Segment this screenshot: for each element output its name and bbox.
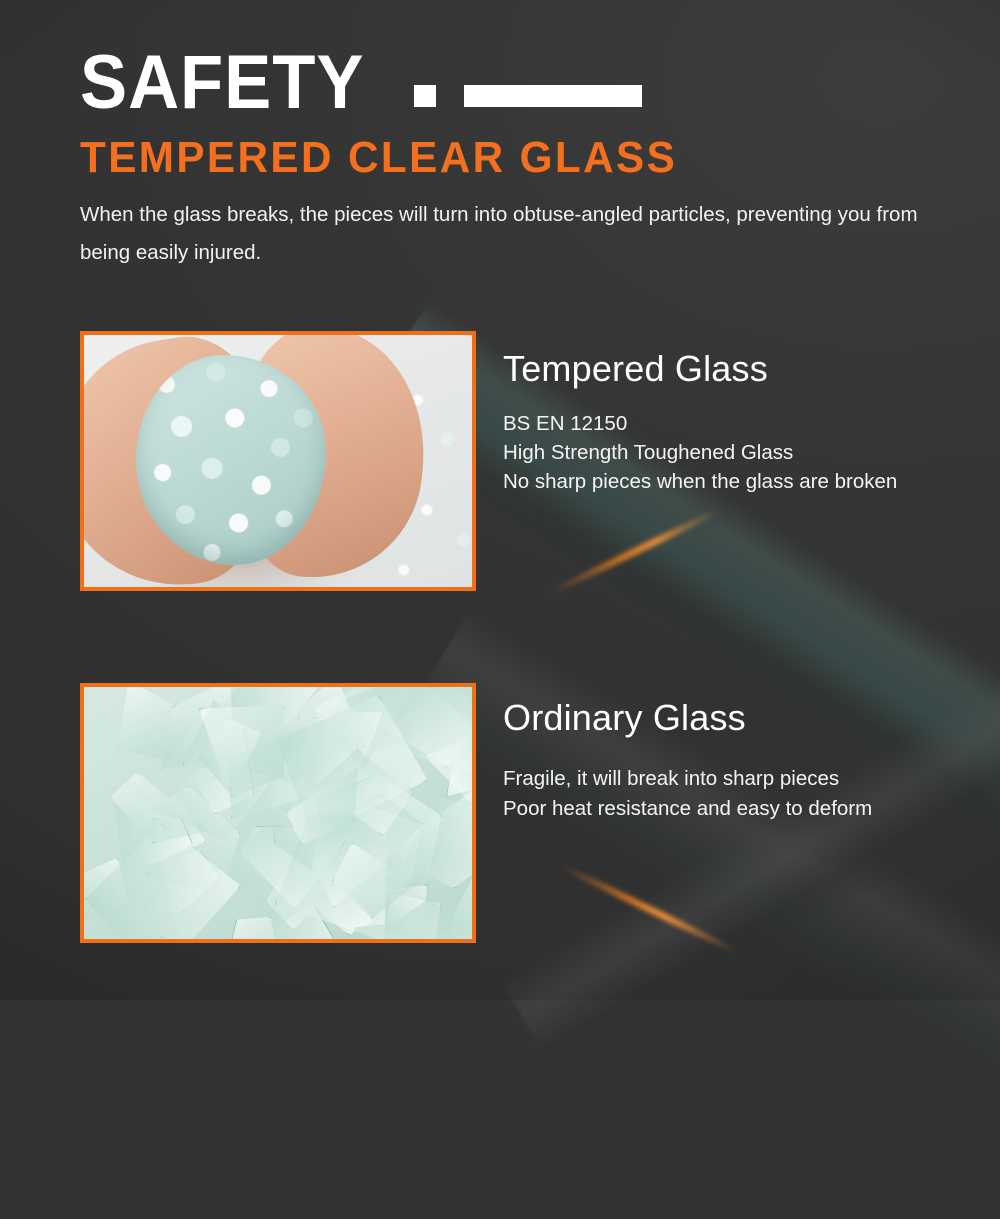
spec-item: Poor heat resistance and easy to deform bbox=[503, 794, 872, 825]
ordinary-glass-title: Ordinary Glass bbox=[503, 698, 872, 738]
ordinary-glass-card bbox=[80, 683, 476, 943]
headline-bar-mark bbox=[464, 85, 642, 107]
page-description: When the glass breaks, the pieces will t… bbox=[80, 196, 950, 272]
tempered-glass-card bbox=[80, 331, 476, 591]
ordinary-glass-specs: Fragile, it will break into sharp pieces… bbox=[503, 764, 872, 826]
tempered-glass-info: Tempered Glass BS EN 12150 High Strength… bbox=[503, 349, 897, 496]
tempered-glass-specs: BS EN 12150 High Strength Toughened Glas… bbox=[503, 409, 897, 496]
spec-item: BS EN 12150 bbox=[503, 409, 897, 438]
tempered-glass-photo bbox=[80, 331, 476, 591]
page-title: SAFETY bbox=[80, 45, 364, 121]
spec-item: High Strength Toughened Glass bbox=[503, 438, 897, 467]
tempered-glass-title: Tempered Glass bbox=[503, 349, 897, 389]
ordinary-glass-info: Ordinary Glass Fragile, it will break in… bbox=[503, 698, 872, 825]
page-subtitle: TEMPERED CLEAR GLASS bbox=[80, 133, 677, 183]
ordinary-glass-photo bbox=[80, 683, 476, 943]
headline-row: SAFETY bbox=[80, 45, 642, 121]
spec-item: Fragile, it will break into sharp pieces bbox=[503, 764, 872, 795]
headline-dot-mark bbox=[414, 85, 436, 107]
spec-item: No sharp pieces when the glass are broke… bbox=[503, 467, 897, 496]
tempered-glass-pellet-pile bbox=[136, 355, 326, 565]
